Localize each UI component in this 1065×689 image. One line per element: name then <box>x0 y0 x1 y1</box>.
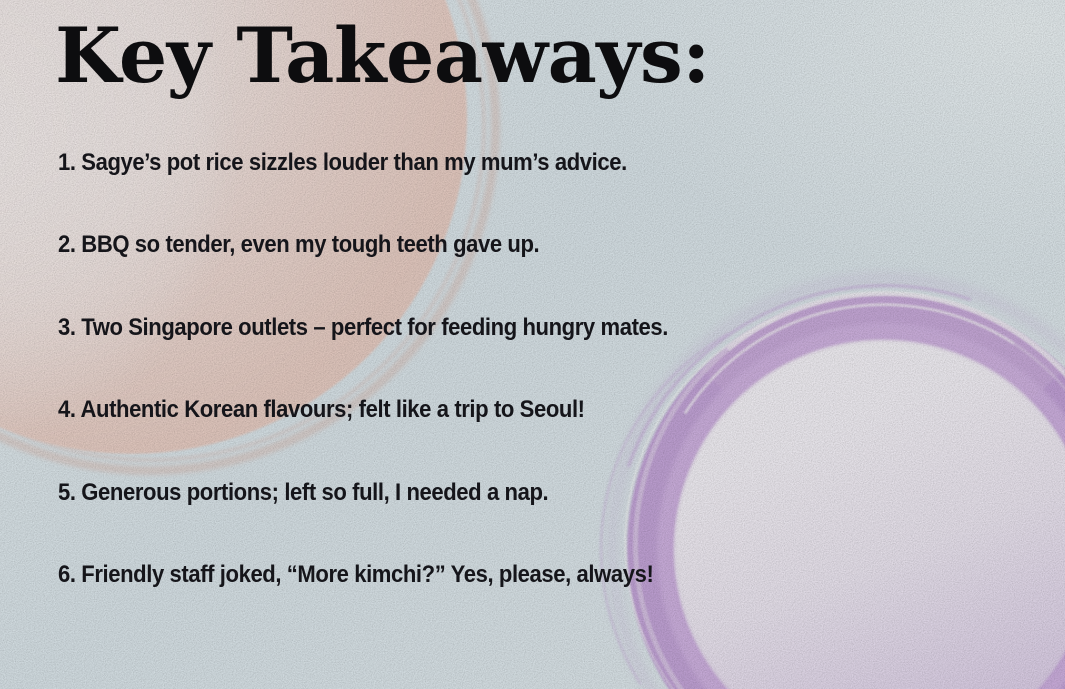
key-takeaways-card: Key Takeaways: 1. Sagye’s pot rice sizzl… <box>0 0 1065 689</box>
list-item: 2. BBQ so tender, even my tough teeth ga… <box>58 232 904 259</box>
list-item: 6. Friendly staff joked, “More kimchi?” … <box>58 562 904 589</box>
list-item: 4. Authentic Korean flavours; felt like … <box>58 397 904 424</box>
page-title: Key Takeaways: <box>55 16 710 96</box>
list-item: 3. Two Singapore outlets – perfect for f… <box>58 315 904 342</box>
list-item: 1. Sagye’s pot rice sizzles louder than … <box>58 150 904 177</box>
takeaways-list: 1. Sagye’s pot rice sizzles louder than … <box>58 150 998 645</box>
list-item: 5. Generous portions; left so full, I ne… <box>58 480 904 507</box>
